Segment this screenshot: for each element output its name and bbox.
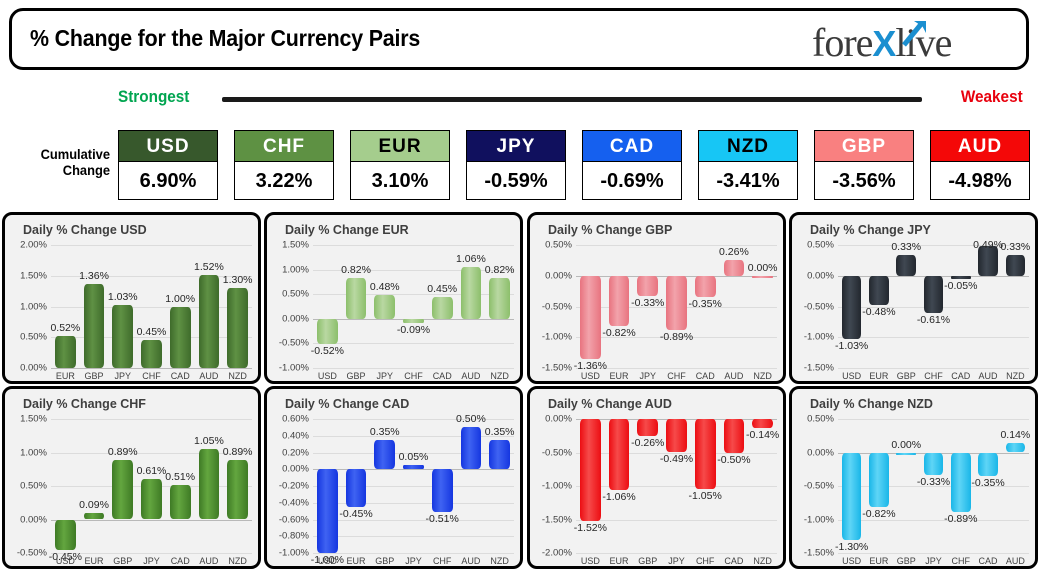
chart-plot-area: -1.50%-1.00%-0.50%0.00%0.50%-1.36%-0.82%… — [530, 241, 779, 379]
y-axis-tick-label: -1.00% — [792, 332, 834, 343]
bar-slot: 0.82% — [485, 241, 514, 379]
bar-slot: -0.05% — [947, 241, 974, 379]
x-axis-tick-label: CAD — [166, 371, 195, 381]
x-axis-tick-label: EUR — [51, 371, 80, 381]
y-axis-tick-label: 0.60% — [267, 414, 309, 425]
bar — [489, 440, 510, 469]
x-axis-tick-label: USD — [838, 556, 865, 566]
bar-slot: 0.05% — [399, 415, 428, 564]
bar-value-label: 1.36% — [79, 270, 109, 282]
bar — [55, 336, 76, 368]
y-axis-tick-label: -1.50% — [530, 514, 572, 525]
x-axis-tick-label: EUR — [80, 556, 109, 566]
x-axis-tick-label: CAD — [720, 556, 749, 566]
bar-group: 0.52%1.36%1.03%0.45%1.00%1.52%1.30% — [51, 241, 252, 379]
chart-panel-usd: Daily % Change USD0.00%0.50%1.00%1.50%2.… — [2, 212, 261, 384]
bar — [170, 485, 191, 519]
bar-value-label: 0.14% — [1000, 429, 1030, 441]
cumulative-value-aud: -4.98% — [930, 162, 1030, 200]
bar-value-label: -0.89% — [660, 331, 693, 343]
bar-slot: 0.14% — [1002, 415, 1029, 564]
y-axis-tick-label: 0.00% — [792, 270, 834, 281]
bar-slot: -0.26% — [633, 415, 662, 564]
bar-value-label: -1.30% — [835, 541, 868, 553]
bar-slot: -0.45% — [342, 415, 371, 564]
y-axis-tick-label: 0.50% — [792, 414, 834, 425]
bar — [84, 513, 105, 519]
cumulative-change-row: Cumulative Change USD6.90%CHF3.22%EUR3.1… — [0, 130, 1040, 204]
bar-value-label: 0.33% — [891, 241, 921, 253]
x-axis-tick-label: EUR — [605, 556, 634, 566]
bar-slot: -0.33% — [633, 241, 662, 379]
bar — [461, 427, 482, 469]
bar — [461, 267, 482, 319]
bar-group: -1.00%-0.45%0.35%0.05%-0.51%0.50%0.35% — [313, 415, 514, 564]
chart-plot-area: -0.50%0.00%0.50%1.00%1.50%-0.45%0.09%0.8… — [5, 415, 254, 564]
bar-value-label: 1.30% — [223, 274, 253, 286]
cumulative-value-usd: 6.90% — [118, 162, 218, 200]
bar-value-label: -1.05% — [689, 490, 722, 502]
bar-value-label: 0.35% — [370, 426, 400, 438]
x-axis-tick-label: EUR — [605, 371, 634, 381]
chart-panel-eur: Daily % Change EUR-1.00%-0.50%0.00%0.50%… — [264, 212, 523, 384]
y-axis-tick-label: 0.00% — [267, 464, 309, 475]
bar-value-label: -0.33% — [631, 297, 664, 309]
bar-value-label: 0.82% — [341, 264, 371, 276]
y-axis-tick-label: 0.50% — [5, 332, 47, 343]
cumulative-value-eur: 3.10% — [350, 162, 450, 200]
bar — [112, 460, 133, 520]
currency-code-eur: EUR — [350, 130, 450, 162]
bar — [609, 276, 630, 326]
bar — [403, 319, 424, 323]
bar — [1006, 443, 1026, 452]
x-axis-tick-label: USD — [576, 371, 605, 381]
bar — [695, 419, 716, 489]
bar-value-label: 0.50% — [456, 413, 486, 425]
bar-slot: 0.35% — [370, 415, 399, 564]
bar — [580, 276, 601, 360]
x-axis-tick-label: USD — [576, 556, 605, 566]
bar-group: -1.52%-1.06%-0.26%-0.49%-1.05%-0.50%-0.1… — [576, 415, 777, 564]
bar-slot: 0.82% — [342, 241, 371, 379]
bar — [141, 479, 162, 520]
bar-slot: -1.03% — [838, 241, 865, 379]
x-axis-tick-label: GBP — [893, 556, 920, 566]
y-axis-tick-label: 1.50% — [5, 270, 47, 281]
currency-code-usd: USD — [118, 130, 218, 162]
bar — [724, 419, 745, 453]
bar-slot: -0.14% — [748, 415, 777, 564]
x-axis: USDGBPJPYCHFCADAUDNZD — [313, 371, 514, 384]
bar-slot: 0.45% — [428, 241, 457, 379]
y-axis-tick-label: -0.80% — [267, 531, 309, 542]
bar-value-label: -0.48% — [862, 306, 895, 318]
bar-value-label: 0.26% — [719, 246, 749, 258]
cumulative-value-nzd: -3.41% — [698, 162, 798, 200]
bar — [695, 276, 716, 298]
x-axis-tick-label: AUD — [720, 371, 749, 381]
currency-code-jpy: JPY — [466, 130, 566, 162]
x-axis-tick-label: AUD — [457, 556, 486, 566]
x-axis-tick-label: GBP — [108, 556, 137, 566]
bar-value-label: 0.05% — [399, 451, 429, 463]
bar-slot: -0.35% — [691, 241, 720, 379]
x-axis-tick-label: CAD — [974, 556, 1001, 566]
bar-slot: 0.00% — [748, 241, 777, 379]
x-axis-tick-label: CAD — [691, 371, 720, 381]
bar — [869, 453, 889, 508]
bar — [112, 305, 133, 368]
currency-code-chf: CHF — [234, 130, 334, 162]
bar — [432, 469, 453, 512]
bar-value-label: 1.05% — [194, 435, 224, 447]
bar-slot: 0.45% — [137, 241, 166, 379]
x-axis-tick-label: AUD — [1002, 556, 1029, 566]
bar-value-label: -0.35% — [689, 298, 722, 310]
page-title: % Change for the Major Currency Pairs — [30, 25, 420, 52]
bar-group: -1.36%-0.82%-0.33%-0.89%-0.35%0.26%0.00% — [576, 241, 777, 379]
y-axis-tick-label: -1.50% — [792, 548, 834, 559]
chart-title: Daily % Change JPY — [810, 223, 931, 237]
x-axis-tick-label: CHF — [662, 371, 691, 381]
y-axis-tick-label: 0.40% — [267, 430, 309, 441]
x-axis-tick-label: CAD — [947, 371, 974, 381]
logo-text-fore: fore — [812, 20, 872, 65]
bar — [1006, 255, 1026, 275]
bar — [84, 284, 105, 368]
x-axis: USDEURGBPJPYCHFCADAUD — [838, 556, 1029, 569]
bar — [752, 276, 773, 278]
x-axis-tick-label: EUR — [865, 556, 892, 566]
cumulative-change-label-line1: Cumulative — [41, 146, 110, 162]
bar — [346, 469, 367, 507]
x-axis-tick-label: JPY — [399, 556, 428, 566]
cumulative-value-chf: 3.22% — [234, 162, 334, 200]
currency-box-cad: CAD-0.69% — [582, 130, 682, 200]
chart-plot-area: -1.00%-0.80%-0.60%-0.40%-0.20%0.00%0.20%… — [267, 415, 516, 564]
x-axis-tick-label: JPY — [662, 556, 691, 566]
bar-slot: 0.00% — [893, 415, 920, 564]
chart-title: Daily % Change NZD — [810, 397, 933, 411]
y-axis-tick-label: 0.00% — [5, 514, 47, 525]
bar-slot: -0.89% — [947, 415, 974, 564]
bar-value-label: -0.51% — [426, 513, 459, 525]
bar-value-label: -0.45% — [339, 508, 372, 520]
x-axis: USDEURGBPJPYCADAUDNZD — [51, 556, 252, 569]
bar-value-label: -0.49% — [660, 453, 693, 465]
currency-code-cad: CAD — [582, 130, 682, 162]
currency-code-aud: AUD — [930, 130, 1030, 162]
bar-group: -0.45%0.09%0.89%0.61%0.51%1.05%0.89% — [51, 415, 252, 564]
bar-slot: -1.05% — [691, 415, 720, 564]
chart-panel-gbp: Daily % Change GBP-1.50%-1.00%-0.50%0.00… — [527, 212, 786, 384]
bar-slot: -0.49% — [662, 415, 691, 564]
y-axis-tick-label: -1.00% — [530, 332, 572, 343]
y-axis-tick-label: -0.50% — [792, 301, 834, 312]
chart-plot-area: -1.50%-1.00%-0.50%0.00%0.50%-1.03%-0.48%… — [792, 241, 1031, 379]
bar-slot: 0.52% — [51, 241, 80, 379]
x-axis: EURGBPJPYCHFCADAUDNZD — [51, 371, 252, 384]
y-axis-tick-label: -0.50% — [267, 338, 309, 349]
x-axis: USDEURGBPJPYCHFCADNZD — [576, 556, 777, 569]
currency-box-usd: USD6.90% — [118, 130, 218, 200]
bar — [842, 453, 862, 540]
header-bar: % Change for the Major Currency Pairs fo… — [9, 8, 1029, 70]
y-axis-tick-label: -0.50% — [5, 548, 47, 559]
bar-value-label: -0.50% — [717, 454, 750, 466]
y-axis-tick-label: 0.50% — [530, 240, 572, 251]
bar-value-label: 0.51% — [165, 471, 195, 483]
y-axis-tick-label: 0.50% — [267, 289, 309, 300]
y-axis-tick-label: -1.00% — [267, 548, 309, 559]
bar-slot: -1.06% — [605, 415, 634, 564]
bar-slot: -0.48% — [865, 241, 892, 379]
bar-slot: 0.51% — [166, 415, 195, 564]
x-axis-tick-label: AUD — [457, 371, 486, 381]
currency-box-jpy: JPY-0.59% — [466, 130, 566, 200]
chart-title: Daily % Change EUR — [285, 223, 409, 237]
bar-value-label: 0.45% — [137, 326, 167, 338]
bar — [580, 419, 601, 521]
bar — [374, 295, 395, 319]
bar — [55, 520, 76, 550]
bar — [141, 340, 162, 368]
bar-value-label: 0.09% — [79, 499, 109, 511]
bar — [666, 419, 687, 452]
x-axis-tick-label: NZD — [748, 371, 777, 381]
x-axis-tick-label: CHF — [947, 556, 974, 566]
bar-slot: 0.35% — [485, 415, 514, 564]
x-axis-tick-label: GBP — [80, 371, 109, 381]
y-axis-tick-label: 1.50% — [267, 240, 309, 251]
chart-title: Daily % Change AUD — [548, 397, 672, 411]
chart-plot-area: -1.50%-1.00%-0.50%0.00%0.50%-1.30%-0.82%… — [792, 415, 1031, 564]
y-axis-tick-label: 1.00% — [5, 301, 47, 312]
y-axis-tick-label: -2.00% — [530, 548, 572, 559]
x-axis-tick-label: AUD — [195, 556, 224, 566]
x-axis-tick-label: GBP — [370, 556, 399, 566]
x-axis: USDEURGBPJPYCHFAUDNZD — [313, 556, 514, 569]
arrow-up-right-icon — [896, 19, 930, 49]
chart-panel-nzd: Daily % Change NZD-1.50%-1.00%-0.50%0.00… — [789, 386, 1038, 569]
bar-value-label: -0.09% — [397, 324, 430, 336]
bar-slot: -0.35% — [974, 415, 1001, 564]
bar-slot: -0.45% — [51, 415, 80, 564]
x-axis-tick-label: USD — [313, 556, 342, 566]
bar-slot: -0.89% — [662, 241, 691, 379]
bar-value-label: 0.00% — [891, 439, 921, 451]
x-axis-tick-label: JPY — [137, 556, 166, 566]
currency-code-nzd: NZD — [698, 130, 798, 162]
bar-slot: 0.48% — [370, 241, 399, 379]
bar — [924, 453, 944, 475]
bar — [609, 419, 630, 490]
x-axis-tick-label: USD — [838, 371, 865, 381]
bar — [896, 453, 916, 455]
x-axis-tick-label: JPY — [633, 371, 662, 381]
chart-plot-area: -2.00%-1.50%-1.00%-0.50%0.00%-1.52%-1.06… — [530, 415, 779, 564]
x-axis-tick-label: NZD — [1002, 371, 1029, 381]
bar-value-label: -0.61% — [917, 314, 950, 326]
x-axis-tick-label: NZD — [485, 556, 514, 566]
x-axis-tick-label: GBP — [342, 371, 371, 381]
bar — [317, 319, 338, 345]
bar-slot: 0.50% — [457, 415, 486, 564]
strength-scale: Strongest Weakest — [0, 84, 1040, 114]
x-axis-tick-label: CAD — [166, 556, 195, 566]
bar-slot: 0.49% — [974, 241, 1001, 379]
chart-title: Daily % Change USD — [23, 223, 147, 237]
bar-value-label: 1.00% — [165, 293, 195, 305]
strongest-label: Strongest — [118, 87, 189, 107]
bar-value-label: 0.82% — [485, 264, 515, 276]
bar-slot: -1.52% — [576, 415, 605, 564]
x-axis-tick-label: AUD — [974, 371, 1001, 381]
logo-x-letter: X — [872, 23, 895, 64]
y-axis-tick-label: -0.40% — [267, 497, 309, 508]
y-axis-tick-label: -1.00% — [530, 481, 572, 492]
bar-slot: 0.89% — [223, 415, 252, 564]
bar-value-label: 0.33% — [1000, 241, 1030, 253]
bar-value-label: 0.48% — [370, 281, 400, 293]
bar-value-label: -0.82% — [602, 327, 635, 339]
bar-value-label: -0.82% — [862, 508, 895, 520]
bar-slot: 0.33% — [1002, 241, 1029, 379]
bar-slot: -0.52% — [313, 241, 342, 379]
bar-value-label: -1.03% — [835, 340, 868, 352]
y-axis-tick-label: 0.50% — [5, 481, 47, 492]
y-axis-tick-label: -1.00% — [267, 363, 309, 374]
y-axis-tick-label: 2.00% — [5, 240, 47, 251]
bar — [951, 453, 971, 513]
y-axis-tick-label: -1.50% — [530, 363, 572, 374]
y-axis-tick-label: 0.00% — [530, 414, 572, 425]
bar-slot: -0.82% — [605, 241, 634, 379]
weakest-label: Weakest — [961, 87, 1023, 107]
x-axis-tick-label: EUR — [865, 371, 892, 381]
bar — [199, 449, 220, 519]
scale-line — [222, 97, 922, 102]
forexlive-logo: foreXlive — [812, 19, 1012, 65]
bar-value-label: 1.52% — [194, 261, 224, 273]
x-axis-tick-label: NZD — [748, 556, 777, 566]
bar-value-label: 1.06% — [456, 253, 486, 265]
currency-box-aud: AUD-4.98% — [930, 130, 1030, 200]
bar — [227, 288, 248, 368]
bar-value-label: 0.49% — [973, 239, 1003, 251]
bar-slot: 1.05% — [195, 415, 224, 564]
bar-value-label: -0.35% — [971, 477, 1004, 489]
bar-value-label: -0.14% — [746, 429, 779, 441]
bar — [317, 469, 338, 553]
bar — [199, 275, 220, 368]
x-axis-tick-label: CHF — [137, 371, 166, 381]
bar — [724, 260, 745, 276]
x-axis-tick-label: CAD — [428, 371, 457, 381]
x-axis-tick-label: CHF — [399, 371, 428, 381]
bar — [432, 297, 453, 319]
bar-slot: 1.30% — [223, 241, 252, 379]
bar-slot: 1.03% — [108, 241, 137, 379]
bar — [489, 278, 510, 318]
x-axis-tick-label: AUD — [195, 371, 224, 381]
y-axis-tick-label: -0.50% — [792, 481, 834, 492]
bar — [752, 419, 773, 428]
bar — [374, 440, 395, 469]
y-axis-tick-label: 0.20% — [267, 447, 309, 458]
x-axis-tick-label: JPY — [370, 371, 399, 381]
x-axis: USDEURGBPCHFCADAUDNZD — [838, 371, 1029, 384]
bar-slot: -1.30% — [838, 415, 865, 564]
bar-slot: -1.36% — [576, 241, 605, 379]
bar — [637, 419, 658, 436]
bar-value-label: -0.05% — [944, 280, 977, 292]
bar — [227, 460, 248, 520]
bar — [403, 465, 424, 469]
bar-slot: -0.61% — [920, 241, 947, 379]
y-axis-tick-label: -0.20% — [267, 481, 309, 492]
bar-group: -1.30%-0.82%0.00%-0.33%-0.89%-0.35%0.14% — [838, 415, 1029, 564]
x-axis-tick-label: JPY — [920, 556, 947, 566]
bar — [951, 276, 971, 279]
y-axis-tick-label: 1.00% — [267, 264, 309, 275]
chart-title: Daily % Change CAD — [285, 397, 409, 411]
bar-value-label: 0.89% — [108, 446, 138, 458]
bar-slot: -0.51% — [428, 415, 457, 564]
y-axis-tick-label: -0.60% — [267, 514, 309, 525]
y-axis-tick-label: -0.50% — [530, 447, 572, 458]
bar — [896, 255, 916, 275]
bar-slot: 0.61% — [137, 415, 166, 564]
y-axis-tick-label: 0.50% — [792, 240, 834, 251]
cumulative-value-cad: -0.69% — [582, 162, 682, 200]
bar-value-label: 1.03% — [108, 291, 138, 303]
bar — [666, 276, 687, 331]
bar — [842, 276, 862, 339]
chart-plot-area: 0.00%0.50%1.00%1.50%2.00%0.52%1.36%1.03%… — [5, 241, 254, 379]
bar-group: -0.52%0.82%0.48%-0.09%0.45%1.06%0.82% — [313, 241, 514, 379]
y-axis-tick-label: 0.00% — [5, 363, 47, 374]
bar-slot: 1.00% — [166, 241, 195, 379]
bar-slot: 0.09% — [80, 415, 109, 564]
y-axis-tick-label: -0.50% — [530, 301, 572, 312]
chart-title: Daily % Change GBP — [548, 223, 672, 237]
cumulative-value-gbp: -3.56% — [814, 162, 914, 200]
cumulative-change-label-line2: Change — [63, 162, 110, 178]
chart-plot-area: -1.00%-0.50%0.00%0.50%1.00%1.50%-0.52%0.… — [267, 241, 516, 379]
chart-panel-jpy: Daily % Change JPY-1.50%-1.00%-0.50%0.00… — [789, 212, 1038, 384]
bar-value-label: 0.52% — [50, 322, 80, 334]
chart-title: Daily % Change CHF — [23, 397, 146, 411]
x-axis-tick-label: CHF — [428, 556, 457, 566]
bar-slot: 1.52% — [195, 241, 224, 379]
x-axis-tick-label: JPY — [108, 371, 137, 381]
y-axis-tick-label: 0.00% — [530, 270, 572, 281]
bar-slot: 0.33% — [893, 241, 920, 379]
bar — [170, 307, 191, 369]
bar-slot: 1.36% — [80, 241, 109, 379]
bar-group: -1.03%-0.48%0.33%-0.61%-0.05%0.49%0.33% — [838, 241, 1029, 379]
x-axis-tick-label: NZD — [223, 556, 252, 566]
x-axis-tick-label: EUR — [342, 556, 371, 566]
cumulative-value-jpy: -0.59% — [466, 162, 566, 200]
x-axis-tick-label: NZD — [223, 371, 252, 381]
bar-value-label: -1.06% — [602, 491, 635, 503]
chart-panel-aud: Daily % Change AUD-2.00%-1.50%-1.00%-0.5… — [527, 386, 786, 569]
x-axis: USDEURJPYCHFCADAUDNZD — [576, 371, 777, 384]
bar-slot: -0.33% — [920, 415, 947, 564]
